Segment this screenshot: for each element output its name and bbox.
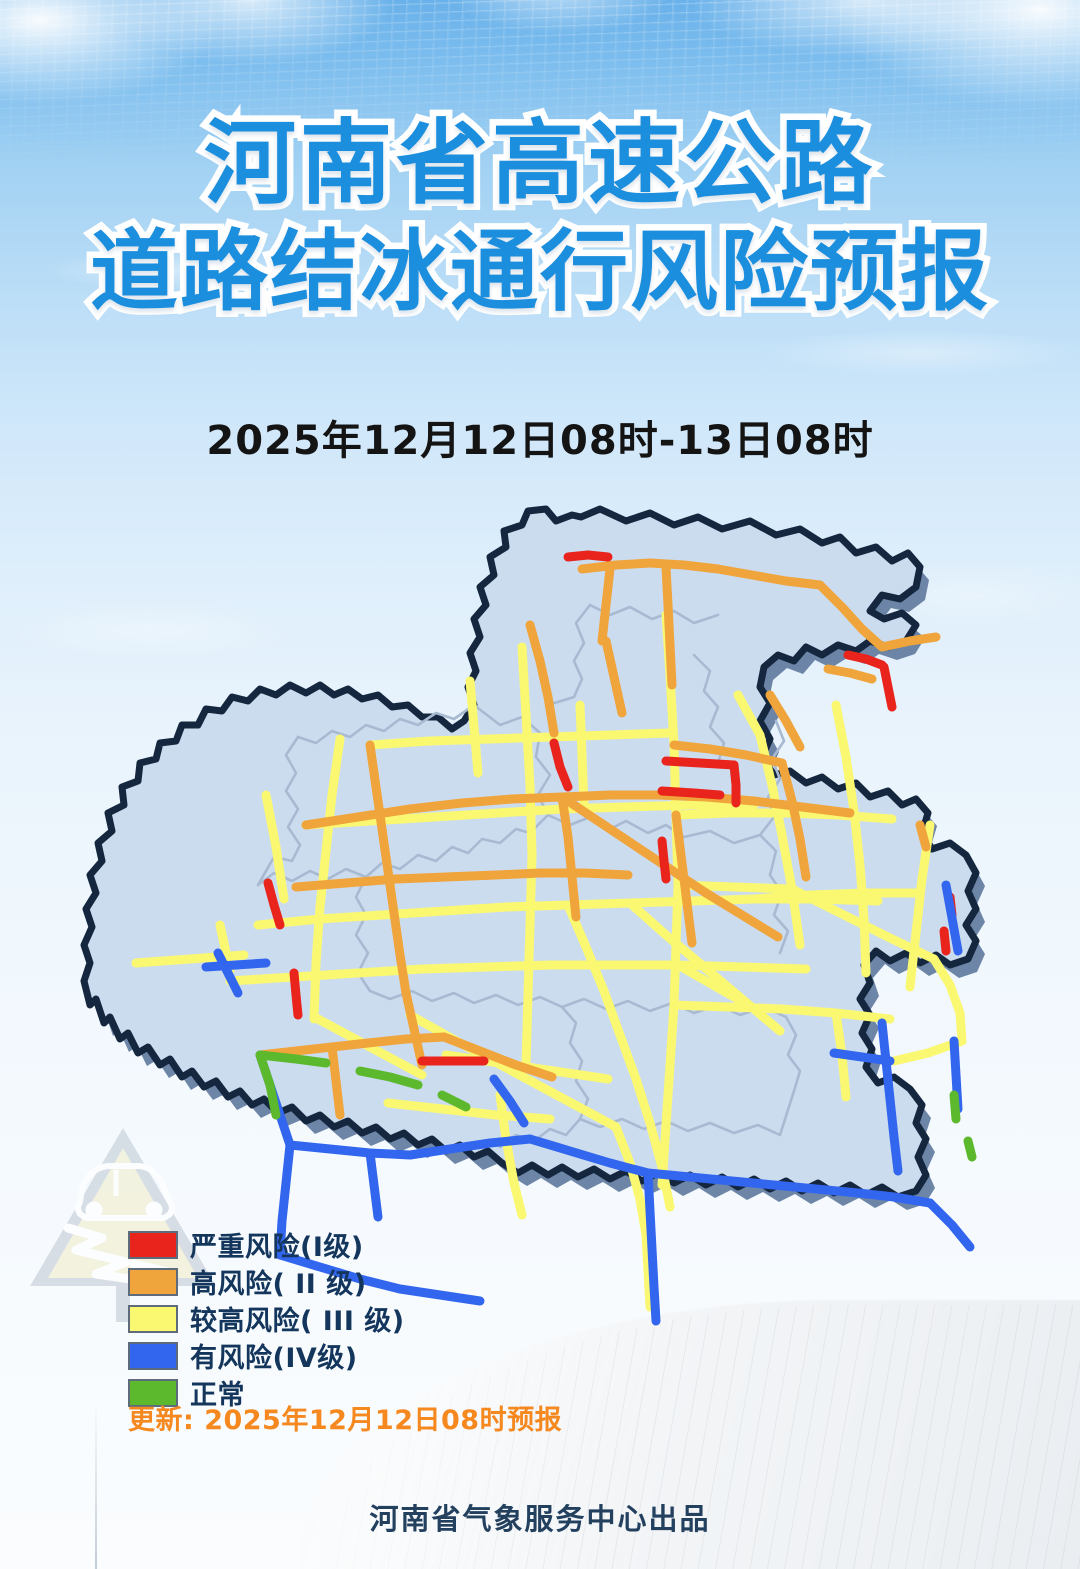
road-edge-line <box>95 1400 97 1569</box>
poster-root: 河南省高速公路 道路结冰通行风险预报 2025年12月12日08时-13日08时 <box>0 0 1080 1569</box>
legend-swatch-elevated <box>128 1305 178 1333</box>
legend-label-severe: 严重风险(I级) <box>190 1225 364 1264</box>
legend-swatch-risk <box>128 1342 178 1370</box>
legend-label-risk: 有风险(IV级) <box>190 1336 358 1375</box>
legend-item-elevated[interactable]: 较高风险( III 级) <box>128 1302 405 1335</box>
legend: 严重风险(I级) 高风险( II 级) 较高风险( III 级) 有风险(IV级… <box>128 1228 405 1413</box>
legend-item-high[interactable]: 高风险( II 级) <box>128 1265 405 1298</box>
title-line-1: 河南省高速公路 <box>0 112 1080 216</box>
legend-label-high: 高风险( II 级) <box>190 1262 367 1301</box>
legend-swatch-high <box>128 1268 178 1296</box>
legend-item-severe[interactable]: 严重风险(I级) <box>128 1228 405 1261</box>
credit-line: 河南省气象服务中心出品 <box>0 1496 1080 1538</box>
forecast-date-range: 2025年12月12日08时-13日08时 <box>0 408 1080 466</box>
legend-swatch-severe <box>128 1231 178 1259</box>
legend-label-elevated: 较高风险( III 级) <box>190 1299 405 1338</box>
update-note: 更新: 2025年12月12日08时预报 <box>128 1398 562 1437</box>
legend-item-risk[interactable]: 有风险(IV级) <box>128 1339 405 1372</box>
page-title: 河南省高速公路 道路结冰通行风险预报 <box>0 112 1080 324</box>
title-line-2: 道路结冰通行风险预报 <box>0 220 1080 324</box>
cloud-wisp <box>760 330 1080 376</box>
